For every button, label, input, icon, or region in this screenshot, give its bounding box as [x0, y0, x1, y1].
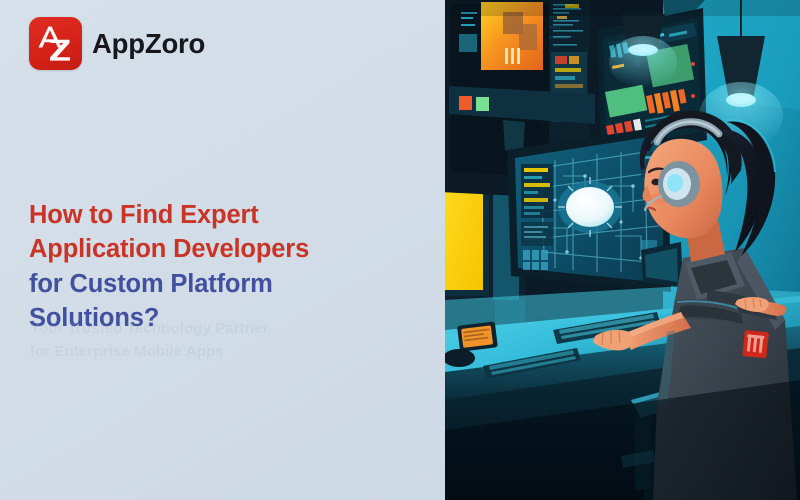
- appzoro-wordmark: AppZoro: [92, 30, 205, 58]
- brand-logo-lockup[interactable]: AppZoro: [29, 17, 205, 70]
- secondary-monitor: [641, 242, 683, 288]
- headline-line-3: for Custom Platform: [29, 267, 429, 301]
- article-hero-banner: AppZoro How to Find Expert Application D…: [0, 0, 800, 500]
- appzoro-logo-icon: [29, 17, 82, 70]
- headline-line-1: How to Find Expert: [29, 198, 429, 232]
- text-panel: AppZoro How to Find Expert Application D…: [0, 0, 445, 500]
- watermark-subtext: Your Trusted Technology Partner for Ente…: [30, 318, 390, 363]
- desk-tablet-device: [457, 321, 498, 351]
- watermark-line-2: for Enterprise Mobile Apps: [30, 341, 390, 364]
- page-title: How to Find Expert Application Developer…: [29, 198, 429, 335]
- developer-at-workstation-illustration: [445, 0, 800, 500]
- sleeve-patch: [742, 330, 769, 358]
- watermark-line-1: Your Trusted Technology Partner: [30, 318, 390, 341]
- code-text-monitor: [549, 0, 589, 150]
- headline-line-2: Application Developers: [29, 232, 429, 266]
